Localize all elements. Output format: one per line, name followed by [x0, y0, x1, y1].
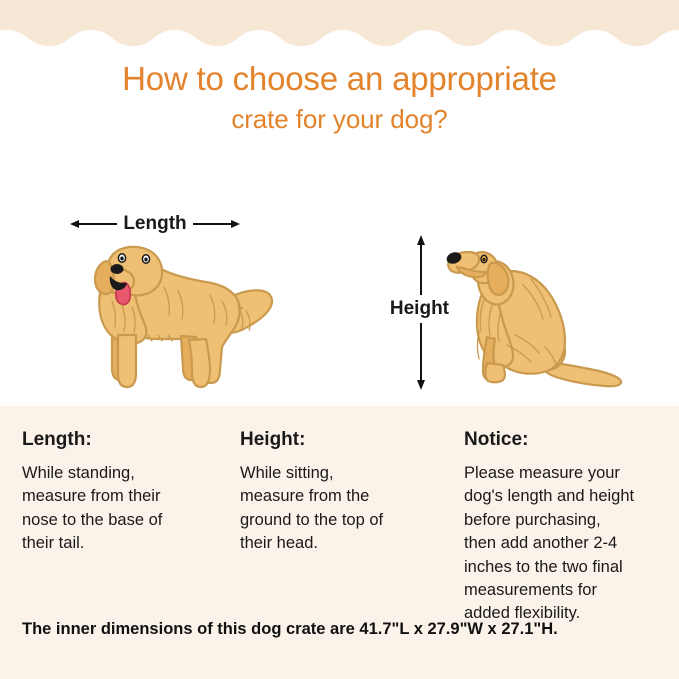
column-height-heading: Height:	[240, 430, 445, 451]
page-title: How to choose an appropriate crate for y…	[0, 62, 679, 132]
arrow-left-icon	[70, 217, 118, 231]
header-wave-shape	[0, 0, 679, 56]
column-notice-heading: Notice:	[464, 430, 669, 451]
standing-dog-illustration	[60, 235, 275, 395]
column-height-body: While sitting, measure from the ground t…	[240, 462, 445, 556]
column-height: Height: While sitting, measure from the …	[240, 430, 445, 556]
column-length: Length: While standing, measure from the…	[22, 430, 222, 556]
column-notice-body: Please measure your dog's length and hei…	[464, 462, 669, 626]
info-panel: Length: While standing, measure from the…	[0, 406, 679, 679]
length-label: Length	[120, 213, 189, 235]
title-line-2: crate for your dog?	[0, 106, 679, 132]
header-wave-band	[0, 0, 679, 56]
info-columns: Length: While standing, measure from the…	[0, 430, 679, 615]
arrow-right-icon	[192, 217, 240, 231]
height-label: Height	[355, 295, 453, 323]
sitting-dog-illustration	[445, 235, 630, 395]
sitting-dog-svg	[445, 235, 630, 390]
column-length-body: While standing, measure from their nose …	[22, 462, 222, 556]
standing-dog-svg	[60, 235, 275, 390]
crate-dimensions-note: The inner dimensions of this dog crate a…	[22, 620, 667, 640]
infographic-page: How to choose an appropriate crate for y…	[0, 0, 679, 679]
title-line-1: How to choose an appropriate	[0, 62, 679, 95]
column-length-heading: Length:	[22, 430, 222, 451]
column-notice: Notice: Please measure your dog's length…	[464, 430, 669, 626]
illustration-area: Length	[0, 185, 679, 405]
